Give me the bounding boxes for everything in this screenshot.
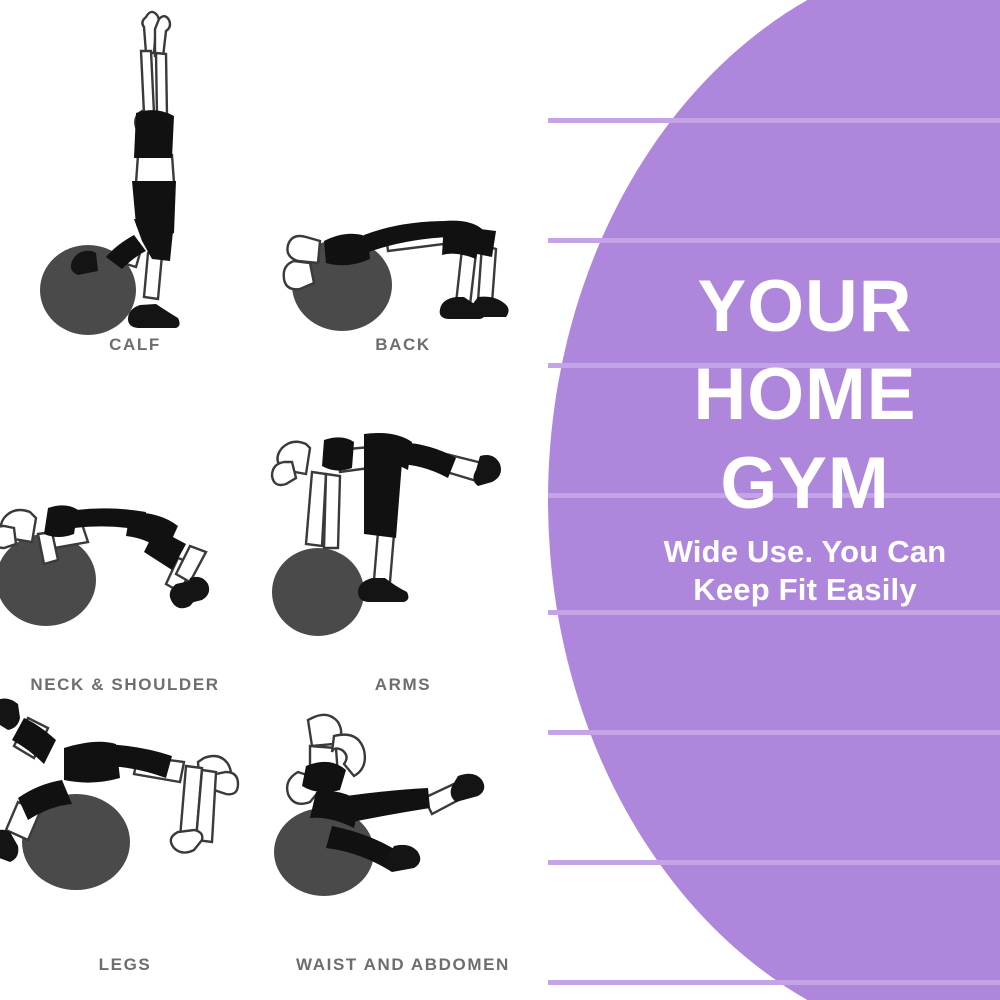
hero-title-line-2: HOME <box>610 358 1000 432</box>
hero-subtitle-line-2: Keep Fit Easily <box>610 571 1000 609</box>
hero-subtitle-line-1: Wide Use. You Can <box>610 533 1000 571</box>
bent-over-ball-press-icon <box>268 400 538 675</box>
exercise-item-legs: LEGS <box>0 680 260 975</box>
disc-stripe <box>548 860 1000 865</box>
ball-leg-curl-plank-icon <box>0 680 260 955</box>
exercise-item-calf: CALF <box>0 5 270 355</box>
hero-title-line-1: YOUR <box>610 270 1000 344</box>
exercise-label: WAIST AND ABDOMEN <box>268 955 538 975</box>
hero-title-line-3: GYM <box>610 447 1000 521</box>
calf-raise-on-ball-icon <box>0 5 270 335</box>
exercise-item-back: BACK <box>268 5 538 355</box>
home-gym-poster: YOUR HOME GYM Wide Use. You Can Keep Fit… <box>0 0 1000 1000</box>
disc-stripe <box>548 610 1000 615</box>
disc-stripe <box>548 730 1000 735</box>
exercise-grid: CALF <box>0 0 560 1000</box>
forearm-plank-on-ball-icon <box>0 400 260 675</box>
exercise-item-waist-abdomen: WAIST AND ABDOMEN <box>268 680 538 975</box>
seated-ball-twist-icon <box>268 680 538 955</box>
exercise-item-neck-shoulder: NECK & SHOULDER <box>0 400 260 695</box>
exercise-label: CALF <box>0 335 270 355</box>
exercise-label: BACK <box>268 335 538 355</box>
exercise-item-arms: ARMS <box>268 400 538 695</box>
disc-stripe <box>548 980 1000 985</box>
disc-stripe <box>548 238 1000 243</box>
hero-copy-block: YOUR HOME GYM Wide Use. You Can Keep Fit… <box>610 270 1000 609</box>
ball-bridge-icon <box>268 5 538 335</box>
disc-stripe <box>548 118 1000 123</box>
exercise-label: LEGS <box>0 955 260 975</box>
